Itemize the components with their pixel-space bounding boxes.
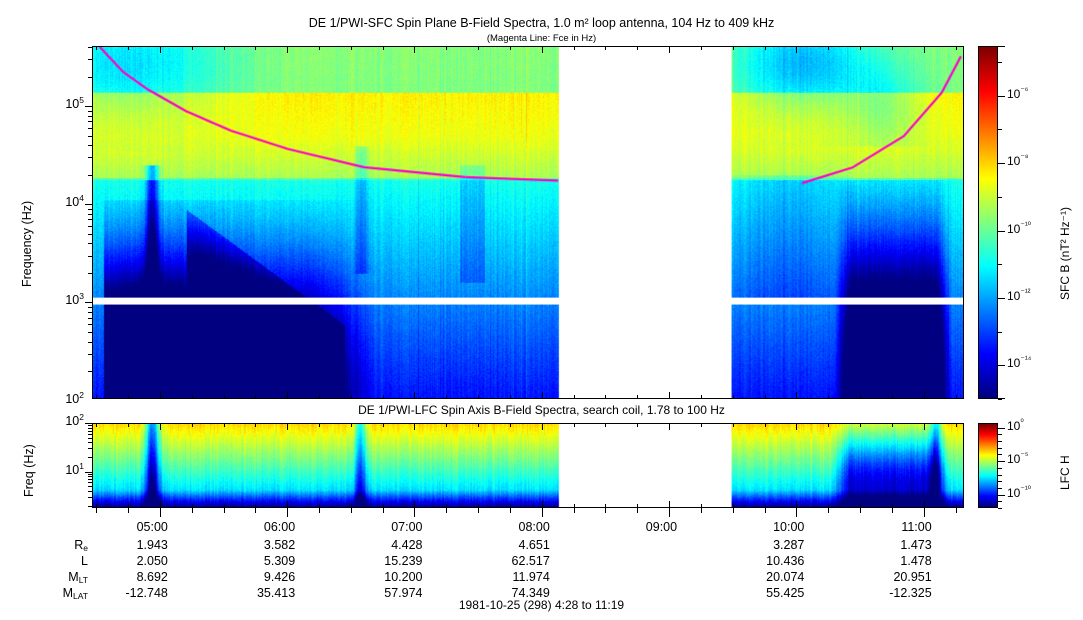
time-tick <box>192 46 193 50</box>
sfc-cbtick <box>998 129 1002 130</box>
sfc-y-axis-label: Frequency (Hz) <box>20 201 34 287</box>
time-tick <box>287 46 288 53</box>
time-tick <box>605 423 606 427</box>
time-tick <box>860 395 861 399</box>
sfc-cbtick-label: 10⁻⁶ <box>1007 87 1055 101</box>
time-tick <box>383 423 384 427</box>
time-axis-label: 10:00 <box>708 520 804 534</box>
time-tick <box>956 423 957 427</box>
time-tick <box>383 46 384 50</box>
time-axis-label: 06:00 <box>199 520 295 534</box>
time-tick <box>701 395 702 399</box>
time-tick <box>924 501 925 508</box>
lfc-ytick <box>85 423 92 424</box>
sfc-ytick <box>88 219 92 220</box>
time-tick <box>224 46 225 50</box>
time-tick <box>351 46 352 50</box>
time-tick <box>224 395 225 399</box>
time-tick <box>892 395 893 399</box>
sfc-ytick <box>88 312 92 313</box>
time-tick <box>351 423 352 427</box>
ephemeris-value: 10.436 <box>708 554 804 568</box>
ephemeris-table: 05:0006:0007:0008:0009:0010:0011:00ReLML… <box>0 512 1083 598</box>
sfc-ytick <box>88 318 92 319</box>
time-axis-label: 09:00 <box>581 520 677 534</box>
sfc-y-axis-ticks <box>92 46 93 399</box>
lfc-cbtick <box>998 461 1005 462</box>
sfc-ytick <box>88 47 92 48</box>
sfc-cbtick-label: 10⁻¹² <box>1007 289 1055 303</box>
time-tick <box>96 46 97 50</box>
time-tick <box>796 46 797 53</box>
lfc-ytick <box>88 442 92 443</box>
sfc-cbtick <box>998 231 1005 232</box>
time-tick <box>192 423 193 427</box>
time-tick <box>574 395 575 399</box>
time-axis-label: 07:00 <box>326 520 422 534</box>
lfc-ytick <box>88 438 92 439</box>
sfc-cbtick <box>998 163 1005 164</box>
sfc-cbtick-label: 10⁻⁸ <box>1007 154 1055 168</box>
time-tick <box>160 423 161 430</box>
sfc-ytick-label: 104 <box>38 195 84 209</box>
time-tick <box>956 395 957 399</box>
time-tick <box>669 392 670 399</box>
ephemeris-value: 1.473 <box>836 538 932 552</box>
lfc-y-axis-ticks <box>92 423 93 508</box>
lfc-cbtick-label: 10⁰ <box>1007 419 1055 433</box>
time-tick <box>796 501 797 508</box>
lfc-ytick <box>88 425 92 426</box>
time-tick <box>637 395 638 399</box>
time-tick <box>287 501 288 508</box>
ephemeris-value: 1.943 <box>72 538 168 552</box>
time-tick <box>924 46 925 53</box>
time-tick <box>796 392 797 399</box>
time-tick <box>701 423 702 427</box>
time-tick <box>319 395 320 399</box>
lfc-colorbar-label: LFC H <box>1058 455 1072 490</box>
time-axis-ticks <box>0 0 1083 1</box>
time-tick <box>669 46 670 53</box>
time-tick <box>510 395 511 399</box>
sfc-ytick <box>88 256 92 257</box>
lfc-cbtick <box>998 428 1005 429</box>
sfc-cbtick <box>998 96 1005 97</box>
time-tick <box>510 46 511 50</box>
time-tick <box>605 395 606 399</box>
time-tick <box>828 423 829 427</box>
lfc-ytick <box>88 486 92 487</box>
lfc-ytick <box>88 428 92 429</box>
time-tick <box>924 392 925 399</box>
sfc-colorbar[interactable] <box>978 46 998 399</box>
lfc-y-axis-label: Freq (Hz) <box>22 444 36 497</box>
time-tick <box>128 423 129 427</box>
lfc-ytick-label: 101 <box>38 463 84 477</box>
time-tick <box>255 46 256 50</box>
time-tick <box>542 501 543 508</box>
lfc-spectrogram-image <box>93 424 963 507</box>
time-tick <box>542 46 543 53</box>
sfc-ytick <box>88 234 92 235</box>
sfc-ytick <box>88 136 92 137</box>
lfc-cbtick <box>998 501 1002 502</box>
sfc-ytick <box>88 226 92 227</box>
time-axis-label: 05:00 <box>72 520 168 534</box>
sfc-ytick <box>88 342 92 343</box>
lfc-cbtick <box>998 434 1002 435</box>
time-tick <box>765 395 766 399</box>
lfc-ytick <box>88 457 92 458</box>
ephemeris-value: 10.200 <box>326 570 422 584</box>
time-tick <box>446 423 447 427</box>
lfc-ytick-label: 102 <box>38 414 84 428</box>
time-tick <box>383 395 384 399</box>
ephemeris-value: 8.692 <box>72 570 168 584</box>
ephemeris-value: 15.239 <box>326 554 422 568</box>
time-tick <box>160 392 161 399</box>
time-tick <box>892 423 893 427</box>
lfc-colorbar[interactable] <box>978 423 998 508</box>
sfc-spectrogram-image <box>93 47 963 398</box>
time-tick <box>351 395 352 399</box>
lfc-ytick <box>88 497 92 498</box>
lfc-cbtick <box>998 441 1002 442</box>
time-tick <box>796 423 797 430</box>
time-tick <box>287 392 288 399</box>
sfc-ytick <box>88 175 92 176</box>
sfc-cbtick <box>998 332 1002 333</box>
lfc-spectrogram-panel[interactable] <box>92 423 964 508</box>
ephemeris-value: 3.287 <box>708 538 804 552</box>
time-axis-label: 08:00 <box>454 520 550 534</box>
time-tick <box>828 395 829 399</box>
ephemeris-value: 4.428 <box>326 538 422 552</box>
time-tick <box>96 395 97 399</box>
sfc-ytick <box>85 204 92 205</box>
sfc-ytick <box>85 106 92 107</box>
lfc-ytick <box>88 479 92 480</box>
sfc-cbtick <box>998 62 1002 63</box>
time-tick <box>637 423 638 427</box>
time-tick <box>319 423 320 427</box>
main-subtitle: (Magenta Line: Fce in Hz) <box>0 33 1083 44</box>
sfc-ytick <box>88 116 92 117</box>
lfc-panel-title: DE 1/PWI-LFC Spin Axis B-Field Spectra, … <box>0 403 1083 417</box>
time-tick <box>860 46 861 50</box>
time-tick <box>319 46 320 50</box>
sfc-ytick <box>88 243 92 244</box>
time-tick <box>637 46 638 50</box>
lfc-cbtick <box>998 508 1002 509</box>
time-tick <box>255 423 256 427</box>
ephemeris-value: 9.426 <box>199 570 295 584</box>
time-tick <box>510 423 511 427</box>
time-tick <box>574 46 575 50</box>
sfc-colorbar-label: SFC B (nT² Hz⁻¹) <box>1058 207 1072 300</box>
sfc-colorbar-ticks <box>998 46 999 399</box>
sfc-ytick <box>88 59 92 60</box>
lfc-cbtick <box>998 448 1002 449</box>
lfc-ytick <box>88 506 92 507</box>
lfc-colorbar-ticks <box>998 423 999 508</box>
ephemeris-value: 1.478 <box>836 554 932 568</box>
sfc-ytick <box>88 157 92 158</box>
time-tick <box>605 46 606 50</box>
lfc-cbtick <box>998 488 1002 489</box>
time-tick <box>446 395 447 399</box>
time-tick <box>192 395 193 399</box>
sfc-ytick <box>88 128 92 129</box>
lfc-cbtick <box>998 475 1002 476</box>
time-tick <box>414 501 415 508</box>
time-tick <box>414 392 415 399</box>
sfc-ytick <box>88 371 92 372</box>
time-tick <box>160 501 161 508</box>
lfc-ytick <box>88 448 92 449</box>
lfc-cbtick <box>998 468 1002 469</box>
time-tick <box>96 423 97 427</box>
lfc-colorbar-gradient <box>979 424 997 507</box>
time-tick <box>765 46 766 50</box>
ephemeris-value: 4.651 <box>454 538 550 552</box>
time-tick <box>542 392 543 399</box>
sfc-cbtick-label: 10⁻¹⁰ <box>1007 222 1055 236</box>
ephemeris-value: 20.074 <box>708 570 804 584</box>
lfc-ytick <box>88 482 92 483</box>
sfc-ytick-label: 102 <box>38 392 84 406</box>
ephemeris-value: 5.309 <box>199 554 295 568</box>
time-tick <box>765 423 766 427</box>
lfc-ytick <box>88 474 92 475</box>
time-axis-label: 11:00 <box>836 520 932 534</box>
time-tick <box>414 423 415 430</box>
sfc-cbtick <box>998 197 1002 198</box>
date-caption: 1981-10-25 (298) 4:28 to 11:19 <box>0 598 1083 612</box>
time-tick <box>478 423 479 427</box>
sfc-colorbar-gradient <box>979 47 997 398</box>
lfc-cbtick <box>998 481 1002 482</box>
sfc-ytick <box>85 302 92 303</box>
ephemeris-value: 20.951 <box>836 570 932 584</box>
time-tick <box>446 46 447 50</box>
time-tick <box>669 423 670 430</box>
ephemeris-value: 3.582 <box>199 538 295 552</box>
time-tick <box>892 46 893 50</box>
sfc-cbtick <box>998 399 1002 400</box>
time-tick <box>224 423 225 427</box>
sfc-cbtick <box>998 298 1005 299</box>
time-tick <box>860 423 861 427</box>
time-tick <box>478 395 479 399</box>
time-tick <box>828 46 829 50</box>
sfc-ytick <box>88 354 92 355</box>
time-tick <box>924 423 925 430</box>
page-title: DE 1/PWI-SFC Spin Plane B-Field Spectra,… <box>0 16 1083 30</box>
sfc-cbtick-top <box>998 46 1005 47</box>
sfc-ytick <box>88 111 92 112</box>
time-tick <box>255 395 256 399</box>
time-tick <box>128 395 129 399</box>
sfc-ytick <box>88 307 92 308</box>
time-tick <box>733 423 734 427</box>
time-tick <box>956 46 957 50</box>
time-tick <box>478 46 479 50</box>
time-tick <box>733 395 734 399</box>
sfc-ytick <box>88 145 92 146</box>
lfc-cbtick <box>998 454 1002 455</box>
time-tick <box>287 423 288 430</box>
sfc-cbtick <box>998 264 1002 265</box>
sfc-ytick <box>88 214 92 215</box>
sfc-ytick <box>88 121 92 122</box>
sfc-cbtick-label: 10⁻¹⁴ <box>1007 356 1055 370</box>
sfc-spectrogram-panel[interactable] <box>92 46 964 399</box>
time-tick <box>160 46 161 53</box>
lfc-ytick <box>85 472 92 473</box>
sfc-cbtick <box>998 365 1005 366</box>
ephemeris-value: 2.050 <box>72 554 168 568</box>
lfc-cbtick-label: 10⁻¹⁰ <box>1007 486 1055 500</box>
time-tick <box>733 46 734 50</box>
ephemeris-value: 62.517 <box>454 554 550 568</box>
time-tick <box>414 46 415 53</box>
time-tick <box>701 46 702 50</box>
sfc-cbtick-bot <box>998 398 1005 399</box>
lfc-ytick <box>88 434 92 435</box>
lfc-cbtick <box>998 495 1005 496</box>
lfc-cbtick-label: 10⁻⁵ <box>1007 452 1055 466</box>
ephemeris-value: 11.974 <box>454 570 550 584</box>
lfc-ytick <box>88 476 92 477</box>
time-tick <box>128 46 129 50</box>
sfc-ytick <box>88 273 92 274</box>
time-tick <box>574 423 575 427</box>
sfc-ytick <box>88 324 92 325</box>
sfc-ytick <box>88 77 92 78</box>
time-tick <box>542 423 543 430</box>
lfc-ytick <box>88 491 92 492</box>
sfc-ytick <box>88 332 92 333</box>
sfc-ytick <box>88 209 92 210</box>
lfc-ytick <box>88 431 92 432</box>
sfc-ytick-label: 105 <box>38 97 84 111</box>
sfc-ytick-label: 103 <box>38 293 84 307</box>
time-tick <box>669 501 670 508</box>
